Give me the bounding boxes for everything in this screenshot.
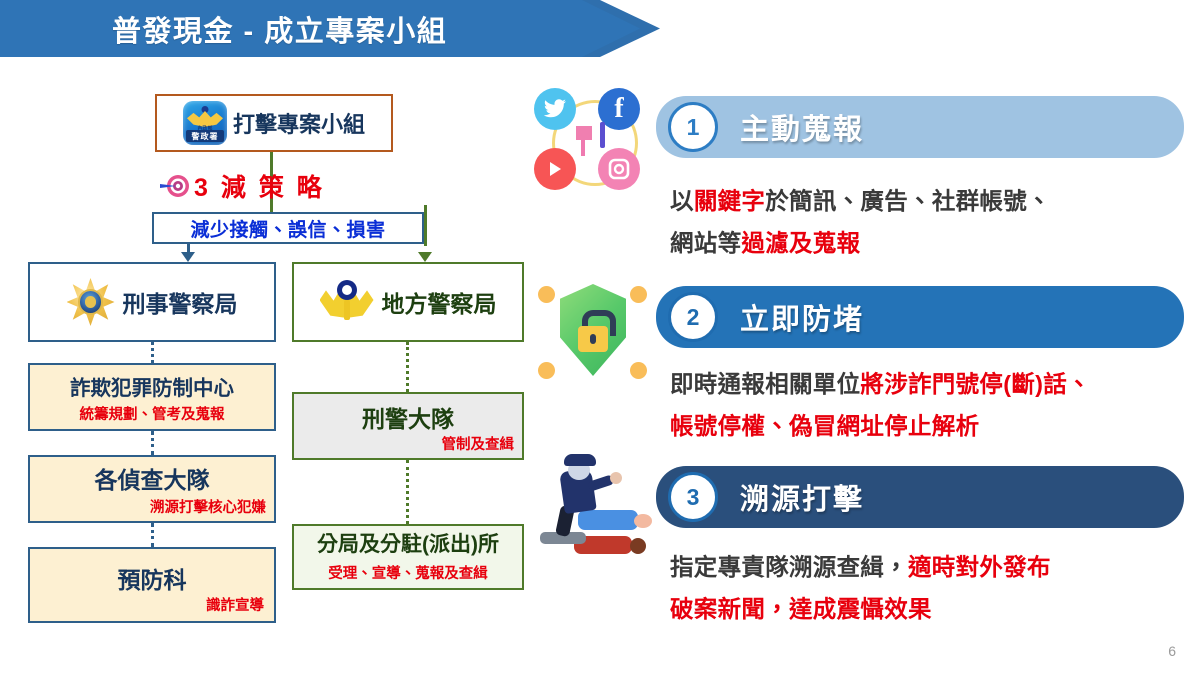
- criminal-investigation-bureau-box[interactable]: 刑事警察局: [28, 262, 276, 342]
- arrow-to-criminal-bureau: [181, 252, 195, 262]
- investigation-brigades-subtitle: 溯源打擊核心犯嫌: [30, 496, 266, 517]
- fraud-prevention-center-box[interactable]: 詐欺犯罪防制中心 統籌規劃、管考及蒐報: [28, 363, 276, 431]
- step-1-body-line-1: 以關鍵字於簡訊、廣告、社群帳號、: [670, 180, 1182, 222]
- police-eagle-emblem-icon: [320, 280, 374, 324]
- step-1-title: 主動蒐報: [740, 106, 864, 148]
- connector-brigades-to-prevention: [151, 523, 154, 547]
- investigation-brigades-box[interactable]: 各偵查大隊 溯源打擊核心犯嫌: [28, 455, 276, 523]
- twitter-icon: [534, 88, 576, 130]
- local-police-bureau-label: 地方警察局: [382, 285, 497, 319]
- criminal-police-brigade-label: 刑警大隊: [294, 400, 522, 434]
- fraud-prevention-center-subtitle: 統籌規劃、管考及蒐報: [30, 403, 274, 424]
- step-2-body: 即時通報相關單位將涉詐門號停(斷)話、 帳號停權、偽冒網址停止解析: [670, 363, 1182, 447]
- task-force-box[interactable]: 內政部 警政署 打擊專案小組: [155, 94, 393, 152]
- reduce-label: 減少接觸、誤信、損害: [190, 215, 385, 242]
- connector-fraud-center-to-brigades: [151, 431, 154, 455]
- target-icon: [160, 173, 190, 199]
- step-3-number: 3: [668, 472, 718, 522]
- step-1-body: 以關鍵字於簡訊、廣告、社群帳號、 網站等過濾及蒐報: [670, 180, 1182, 264]
- arrow-to-local-bureau: [418, 252, 432, 262]
- step-3-body-line-2: 破案新聞，達成震懾效果: [670, 588, 1182, 630]
- step-3-title: 溯源打擊: [740, 476, 864, 518]
- facebook-glyph: f: [614, 95, 623, 123]
- step-1-body-line-2: 網站等過濾及蒐報: [670, 222, 1182, 264]
- prevention-section-label: 預防科: [30, 561, 274, 595]
- criminal-police-brigade-box[interactable]: 刑警大隊 管制及查緝: [292, 392, 524, 460]
- step-2-pill[interactable]: 2 立即防堵: [656, 286, 1184, 348]
- step-1-number: 1: [668, 102, 718, 152]
- step-1-pill[interactable]: 1 主動蒐報: [656, 96, 1184, 158]
- connector-cid-to-station: [406, 460, 409, 524]
- police-agency-app-icon: 內政部 警政署: [183, 101, 227, 145]
- criminal-investigation-bureau-label: 刑事警察局: [123, 285, 238, 319]
- step-2-body-line-1: 即時通報相關單位將涉詐門號停(斷)話、: [670, 363, 1182, 405]
- connector-reduce-right-stem: [424, 205, 427, 246]
- task-force-label: 打擊專案小組: [233, 107, 365, 139]
- criminal-police-brigade-subtitle: 管制及查緝: [294, 433, 514, 454]
- social-media-icons: f: [534, 88, 646, 193]
- instagram-icon: [598, 148, 640, 190]
- page-number: 6: [1168, 643, 1176, 659]
- youtube-icon: [534, 148, 576, 190]
- precinct-and-substation-label: 分局及分駐(派出)所: [294, 528, 522, 558]
- slide-canvas: 普發現金 - 成立專案小組 內政部 警政署 打擊專案小組 3 減 策 略: [0, 0, 1200, 675]
- title-banner: 普發現金 - 成立專案小組: [0, 0, 660, 57]
- star-badge-icon: [67, 278, 115, 326]
- connector-cib-to-fraud-center: [151, 342, 154, 363]
- reduce-box[interactable]: 減少接觸、誤信、損害: [152, 212, 424, 244]
- fraud-prevention-center-label: 詐欺犯罪防制中心: [30, 371, 274, 401]
- police-arrest-icon: [534, 452, 654, 562]
- prevention-section-box[interactable]: 預防科 識詐宣導: [28, 547, 276, 623]
- connector-local-to-cid: [406, 342, 409, 392]
- signal-bar-decoration: [600, 122, 605, 148]
- step-3-body: 指定專責隊溯源查緝，適時對外發布 破案新聞，達成震懾效果: [670, 546, 1182, 630]
- page-title: 普發現金 - 成立專案小組: [112, 8, 447, 50]
- megaphone-icon: [576, 126, 592, 140]
- strategy-row: 3 減 策 略: [160, 168, 460, 204]
- prevention-section-subtitle: 識詐宣導: [30, 594, 264, 615]
- step-2-number: 2: [668, 292, 718, 342]
- app-icon-agency-label: 警政署: [186, 130, 224, 142]
- step-2-body-line-2: 帳號停權、偽冒網址停止解析: [670, 405, 1182, 447]
- strategy-label: 3 減 策 略: [194, 168, 325, 204]
- step-2-title: 立即防堵: [740, 296, 864, 338]
- precinct-and-substation-box[interactable]: 分局及分駐(派出)所 受理、宣導、蒐報及查緝: [292, 524, 524, 590]
- shield-lock-icon: [534, 278, 652, 390]
- investigation-brigades-label: 各偵查大隊: [30, 461, 274, 495]
- local-police-bureau-box[interactable]: 地方警察局: [292, 262, 524, 342]
- step-3-pill[interactable]: 3 溯源打擊: [656, 466, 1184, 528]
- step-3-body-line-1: 指定專責隊溯源查緝，適時對外發布: [670, 546, 1182, 588]
- precinct-and-substation-subtitle: 受理、宣導、蒐報及查緝: [294, 562, 522, 583]
